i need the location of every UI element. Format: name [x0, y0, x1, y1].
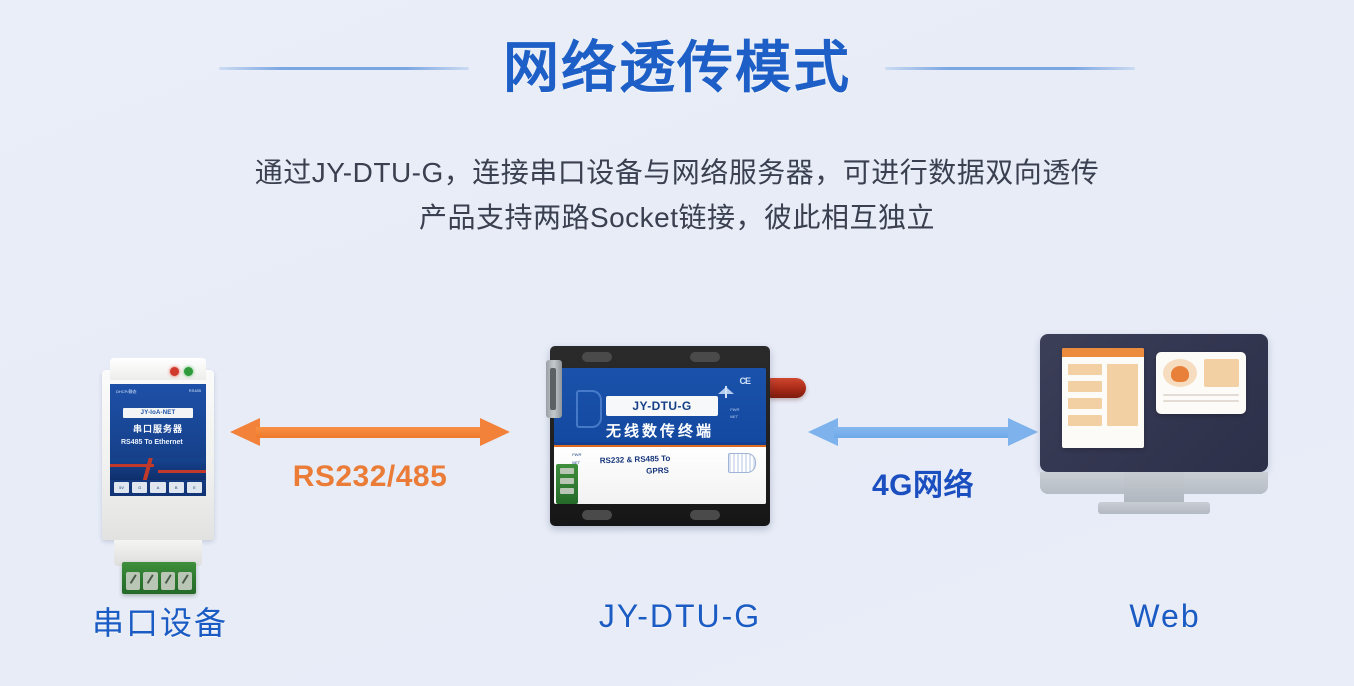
port-label: 5V [114, 482, 129, 493]
title-rule-right [885, 67, 1135, 70]
signal-antenna-icon [718, 386, 736, 398]
port-label: G [132, 482, 147, 493]
monitor-base [1098, 502, 1210, 514]
db9-connector-icon [546, 360, 562, 418]
caption-dtu: JY-DTU-G [520, 598, 840, 635]
profile-row [1163, 359, 1239, 387]
list-item [1068, 381, 1102, 392]
caption-serial-device: 串口设备 [0, 598, 320, 644]
dtu-terminal-block [556, 464, 578, 504]
led-power-icon [170, 367, 179, 376]
dtu-name-badge: JY-DTU-G [606, 396, 718, 416]
dtu-device: CE PWR NET JY-DTU-G 无线数传终端 PWR NET TX [528, 338, 828, 548]
list-item [1068, 398, 1102, 409]
slide-canvas: 网络透传模式 通过JY-DTU-G，连接串口设备与网络服务器，可进行数据双向透传… [0, 0, 1354, 686]
monitor-neck [1124, 472, 1184, 506]
dtu-label-cn: 无线数传终端 [554, 420, 766, 441]
caption-web: Web [1040, 598, 1290, 635]
sim-slot-icon [728, 453, 756, 473]
serial-server-tiny-right: RS485 [189, 388, 201, 393]
list-item [1068, 364, 1102, 375]
dtu-led-labels-right: PWR NET [730, 406, 752, 420]
led-label: PWR [572, 451, 592, 459]
list-item [1068, 415, 1102, 426]
terminal-screws [126, 572, 192, 590]
port-label: A [150, 482, 165, 493]
mount-slot [690, 352, 720, 362]
serial-server-label-cn: 串口服务器 [110, 422, 206, 435]
monitor-screen [1040, 334, 1268, 472]
screw-icon [178, 572, 192, 590]
card-header-bar [1062, 348, 1144, 357]
screw-icon [560, 468, 574, 474]
avatar-icon [1163, 359, 1197, 387]
arrow-shaft [256, 427, 484, 438]
page-title: 网络透传模式 [503, 40, 851, 96]
diagram-row: DHCP/静态 RS485 JY-IoA-NET 串口服务器 RS485 To … [0, 330, 1354, 610]
serial-server-leds [170, 363, 206, 373]
screw-icon [560, 478, 574, 484]
serial-server-terminal-block [122, 562, 196, 594]
link-right-label: 4G网络 [808, 460, 1038, 504]
text-line [1163, 400, 1239, 402]
led-label: PWR [730, 406, 752, 413]
card-columns [1062, 357, 1144, 433]
dtu-lower-panel: PWR NET TX RS232 & RS485 To GPRS [554, 447, 766, 504]
serial-server-faceplate: DHCP/静态 RS485 JY-IoA-NET 串口服务器 RS485 To … [110, 384, 206, 496]
dtu-faceplate: CE PWR NET JY-DTU-G 无线数传终端 PWR NET TX [554, 368, 766, 504]
screen-card-profile [1156, 352, 1246, 414]
serial-server-port-strip: 5V G A B E [114, 482, 202, 493]
serial-server-device: DHCP/静态 RS485 JY-IoA-NET 串口服务器 RS485 To … [88, 348, 238, 588]
link-right: 4G网络 [808, 418, 1038, 504]
serial-server-label-sub: RS485 To Ethernet [121, 438, 201, 447]
arrow-head-right-icon [480, 418, 510, 446]
bidirectional-arrow-icon [230, 418, 510, 446]
subtitle-line-2: 产品支持两路Socket链接，彼此相互独立 [0, 195, 1354, 240]
text-line [1163, 394, 1239, 396]
dtu-bottom-text: RS232 & RS485 To GPRS [600, 451, 731, 480]
card-list-column [1068, 364, 1102, 426]
dtu-metal-frame: CE PWR NET JY-DTU-G 无线数传终端 PWR NET TX [550, 346, 770, 526]
screen-card-document [1062, 348, 1144, 448]
arrow-shaft [834, 427, 1012, 438]
web-monitor [1040, 334, 1290, 554]
serial-server-tiny-left: DHCP/静态 [116, 389, 136, 394]
led-link-icon [184, 367, 193, 376]
card-content-block [1107, 364, 1138, 426]
thumbnail-block [1204, 359, 1239, 387]
dtu-bottom-line-2: GPRS [646, 463, 730, 478]
serial-server-badge: JY-IoA-NET [123, 408, 193, 418]
mount-slot [582, 352, 612, 362]
ce-mark-icon: CE [739, 376, 750, 386]
screw-icon [143, 572, 157, 590]
mount-slot [582, 510, 612, 520]
port-label: E [187, 482, 202, 493]
link-left: RS232/485 [230, 418, 510, 494]
led-label: NET [730, 413, 752, 420]
screw-icon [126, 572, 140, 590]
screw-icon [161, 572, 175, 590]
serial-server-graphic-wave [110, 458, 206, 480]
subtitle-line-1: 通过JY-DTU-G，连接串口设备与网络服务器，可进行数据双向透传 [0, 150, 1354, 195]
mount-slot [690, 510, 720, 520]
title-row: 网络透传模式 [0, 26, 1354, 110]
arrow-head-right-icon [1008, 418, 1038, 446]
antenna-icon [768, 378, 806, 398]
title-rule-left [219, 67, 469, 70]
bidirectional-arrow-icon [808, 418, 1038, 446]
link-left-label: RS232/485 [230, 460, 510, 494]
port-label: B [169, 482, 184, 493]
profile-text-lines [1163, 394, 1239, 402]
subtitle-block: 通过JY-DTU-G，连接串口设备与网络服务器，可进行数据双向透传 产品支持两路… [0, 150, 1354, 241]
screw-icon [560, 488, 574, 494]
